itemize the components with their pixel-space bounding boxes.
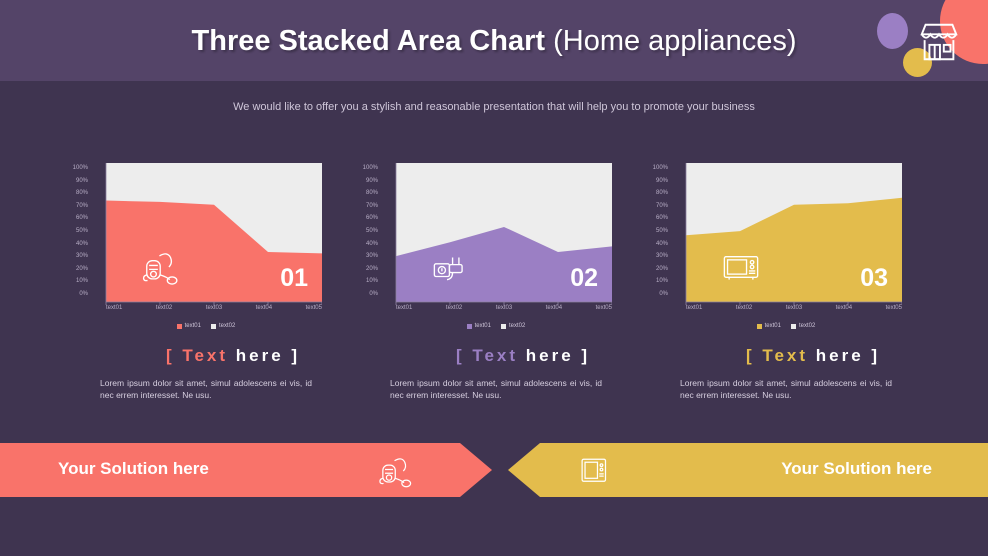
y-tick: 100% <box>62 165 88 178</box>
y-tick: 90% <box>62 178 88 191</box>
y-tick: 100% <box>352 165 378 178</box>
x-tick: text04 <box>836 305 852 311</box>
x-tick: text05 <box>886 305 902 311</box>
y-tick: 30% <box>62 253 88 266</box>
column-2-heading: [ Text here ] <box>368 346 678 366</box>
chart-2-x-axis: text01 text02 text03 text04 text05 <box>396 305 612 311</box>
page-title: Three Stacked Area Chart (Home appliance… <box>0 22 988 60</box>
chart-3-number: 03 <box>860 264 888 293</box>
legend-label: text02 <box>799 323 815 329</box>
chart-3[interactable]: 100% 90% 80% 70% 60% 50% 40% 30% 20% 10%… <box>670 160 902 305</box>
legend-swatch <box>501 324 506 329</box>
column-3: 100% 90% 80% 70% 60% 50% 40% 30% 20% 10%… <box>658 160 968 401</box>
y-tick: 50% <box>62 228 88 241</box>
legend-label: text01 <box>185 323 201 329</box>
heading-accent: [ Text <box>166 346 228 365</box>
x-tick: text04 <box>546 305 562 311</box>
legend-label: text01 <box>765 323 781 329</box>
x-tick: text03 <box>786 305 802 311</box>
y-tick: 10% <box>642 278 668 291</box>
y-tick: 90% <box>352 178 378 191</box>
heading-white: here ] <box>816 346 880 365</box>
y-tick: 90% <box>642 178 668 191</box>
column-2-body: Lorem ipsum dolor sit amet, simul adoles… <box>390 377 602 401</box>
y-tick: 10% <box>352 278 378 291</box>
legend-item[interactable]: text01 <box>757 323 781 329</box>
vacuum-cleaner-icon <box>142 246 180 288</box>
solution-ribbon-left[interactable]: Your Solution here <box>0 443 492 497</box>
y-tick: 50% <box>642 228 668 241</box>
y-tick: 0% <box>352 291 378 304</box>
solution-ribbon-left-label: Your Solution here <box>58 459 209 479</box>
chart-1-y-axis: 100% 90% 80% 70% 60% 50% 40% 30% 20% 10%… <box>62 165 88 304</box>
chart-3-legend: text01 text02 <box>670 323 902 329</box>
vacuum-cleaner-icon <box>378 452 414 490</box>
x-tick: text01 <box>686 305 702 311</box>
y-tick: 70% <box>642 203 668 216</box>
legend-swatch <box>467 324 472 329</box>
legend-label: text01 <box>475 323 491 329</box>
page-title-light: (Home appliances) <box>553 25 796 57</box>
legend-label: text02 <box>509 323 525 329</box>
column-1: 100% 90% 80% 70% 60% 50% 40% 30% 20% 10%… <box>78 160 388 401</box>
legend-item[interactable]: text02 <box>501 323 525 329</box>
y-tick: 50% <box>352 228 378 241</box>
column-3-body: Lorem ipsum dolor sit amet, simul adoles… <box>680 377 892 401</box>
microwave-icon <box>722 246 760 288</box>
legend-swatch <box>211 324 216 329</box>
legend-item[interactable]: text01 <box>177 323 201 329</box>
heading-white: here ] <box>236 346 300 365</box>
column-1-body: Lorem ipsum dolor sit amet, simul adoles… <box>100 377 312 401</box>
chart-1-legend: text01 text02 <box>90 323 322 329</box>
column-1-heading: [ Text here ] <box>78 346 388 366</box>
legend-item[interactable]: text02 <box>211 323 235 329</box>
heading-accent: [ Text <box>456 346 518 365</box>
y-tick: 20% <box>642 266 668 279</box>
x-tick: text02 <box>446 305 462 311</box>
y-tick: 60% <box>62 215 88 228</box>
x-tick: text04 <box>256 305 272 311</box>
x-tick: text01 <box>396 305 412 311</box>
y-tick: 60% <box>352 215 378 228</box>
legend-swatch <box>177 324 182 329</box>
column-2: 100% 90% 80% 70% 60% 50% 40% 30% 20% 10%… <box>368 160 678 401</box>
x-tick: text05 <box>596 305 612 311</box>
y-tick: 60% <box>642 215 668 228</box>
chart-1-x-axis: text01 text02 text03 text04 text05 <box>106 305 322 311</box>
legend-swatch <box>757 324 762 329</box>
x-tick: text01 <box>106 305 122 311</box>
y-tick: 10% <box>62 278 88 291</box>
chart-2-number: 02 <box>570 264 598 293</box>
page-subtitle: We would like to offer you a stylish and… <box>0 101 988 113</box>
y-tick: 20% <box>352 266 378 279</box>
y-tick: 70% <box>62 203 88 216</box>
page-title-bold: Three Stacked Area Chart <box>192 25 554 57</box>
chart-2-y-axis: 100% 90% 80% 70% 60% 50% 40% 30% 20% 10%… <box>352 165 378 304</box>
x-tick: text03 <box>496 305 512 311</box>
heading-accent: [ Text <box>746 346 808 365</box>
legend-item[interactable]: text01 <box>467 323 491 329</box>
y-tick: 20% <box>62 266 88 279</box>
x-tick: text03 <box>206 305 222 311</box>
legend-item[interactable]: text02 <box>791 323 815 329</box>
chart-1-number: 01 <box>280 264 308 293</box>
solution-ribbon-right-label: Your Solution here <box>781 459 932 479</box>
y-tick: 0% <box>642 291 668 304</box>
chart-3-x-axis: text01 text02 text03 text04 text05 <box>686 305 902 311</box>
chart-2-legend: text01 text02 <box>380 323 612 329</box>
microwave-icon <box>578 452 614 490</box>
y-tick: 40% <box>62 241 88 254</box>
power-plug-icon <box>432 246 470 288</box>
legend-label: text02 <box>219 323 235 329</box>
x-tick: text05 <box>306 305 322 311</box>
y-tick: 40% <box>352 241 378 254</box>
heading-white: here ] <box>526 346 590 365</box>
y-tick: 80% <box>642 190 668 203</box>
y-tick: 70% <box>352 203 378 216</box>
x-tick: text02 <box>156 305 172 311</box>
chart-1[interactable]: 100% 90% 80% 70% 60% 50% 40% 30% 20% 10%… <box>90 160 322 305</box>
x-tick: text02 <box>736 305 752 311</box>
legend-swatch <box>791 324 796 329</box>
y-tick: 100% <box>642 165 668 178</box>
chart-3-y-axis: 100% 90% 80% 70% 60% 50% 40% 30% 20% 10%… <box>642 165 668 304</box>
y-tick: 30% <box>642 253 668 266</box>
chart-2[interactable]: 100% 90% 80% 70% 60% 50% 40% 30% 20% 10%… <box>380 160 612 305</box>
y-tick: 30% <box>352 253 378 266</box>
y-tick: 80% <box>352 190 378 203</box>
y-tick: 40% <box>642 241 668 254</box>
solution-ribbon-right[interactable]: Your Solution here <box>508 443 988 497</box>
y-tick: 0% <box>62 291 88 304</box>
page-header: Three Stacked Area Chart (Home appliance… <box>0 0 988 81</box>
y-tick: 80% <box>62 190 88 203</box>
column-3-heading: [ Text here ] <box>658 346 968 366</box>
